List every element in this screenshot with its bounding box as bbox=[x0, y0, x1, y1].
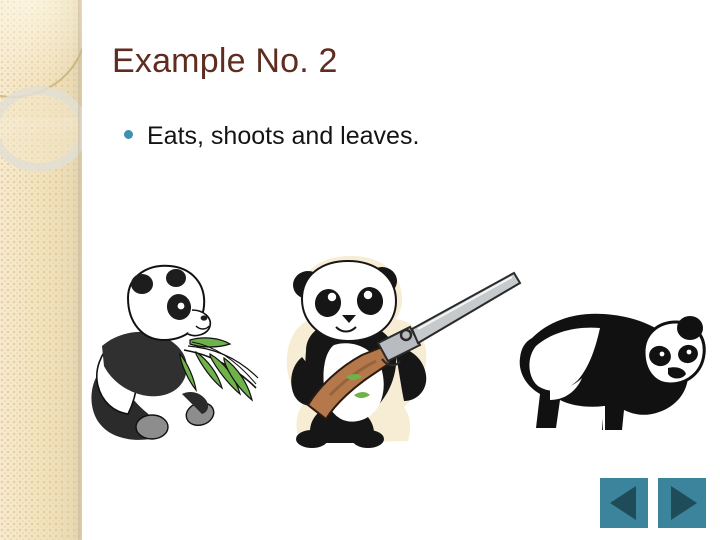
next-slide-button[interactable] bbox=[658, 478, 706, 528]
panda-with-rifle-image bbox=[278, 255, 528, 455]
sidebar-edge bbox=[78, 0, 82, 540]
bullet-dot-icon bbox=[124, 130, 133, 139]
ring-small-icon bbox=[0, 86, 82, 172]
triangle-left-icon bbox=[610, 486, 636, 520]
panda-walking-away-image bbox=[492, 294, 710, 445]
sidebar-decoration bbox=[0, 0, 82, 540]
bullet-list: Eats, shoots and leaves. bbox=[124, 120, 644, 152]
previous-slide-button[interactable] bbox=[600, 478, 648, 528]
triangle-right-icon bbox=[671, 486, 697, 520]
panda-eating-bamboo-image bbox=[84, 262, 264, 457]
slide-canvas: Example No. 2 Eats, shoots and leaves. bbox=[0, 0, 720, 540]
list-item: Eats, shoots and leaves. bbox=[124, 120, 644, 152]
page-title: Example No. 2 bbox=[112, 40, 338, 82]
bullet-text: Eats, shoots and leaves. bbox=[147, 120, 419, 152]
ring-large-icon bbox=[0, 0, 82, 98]
